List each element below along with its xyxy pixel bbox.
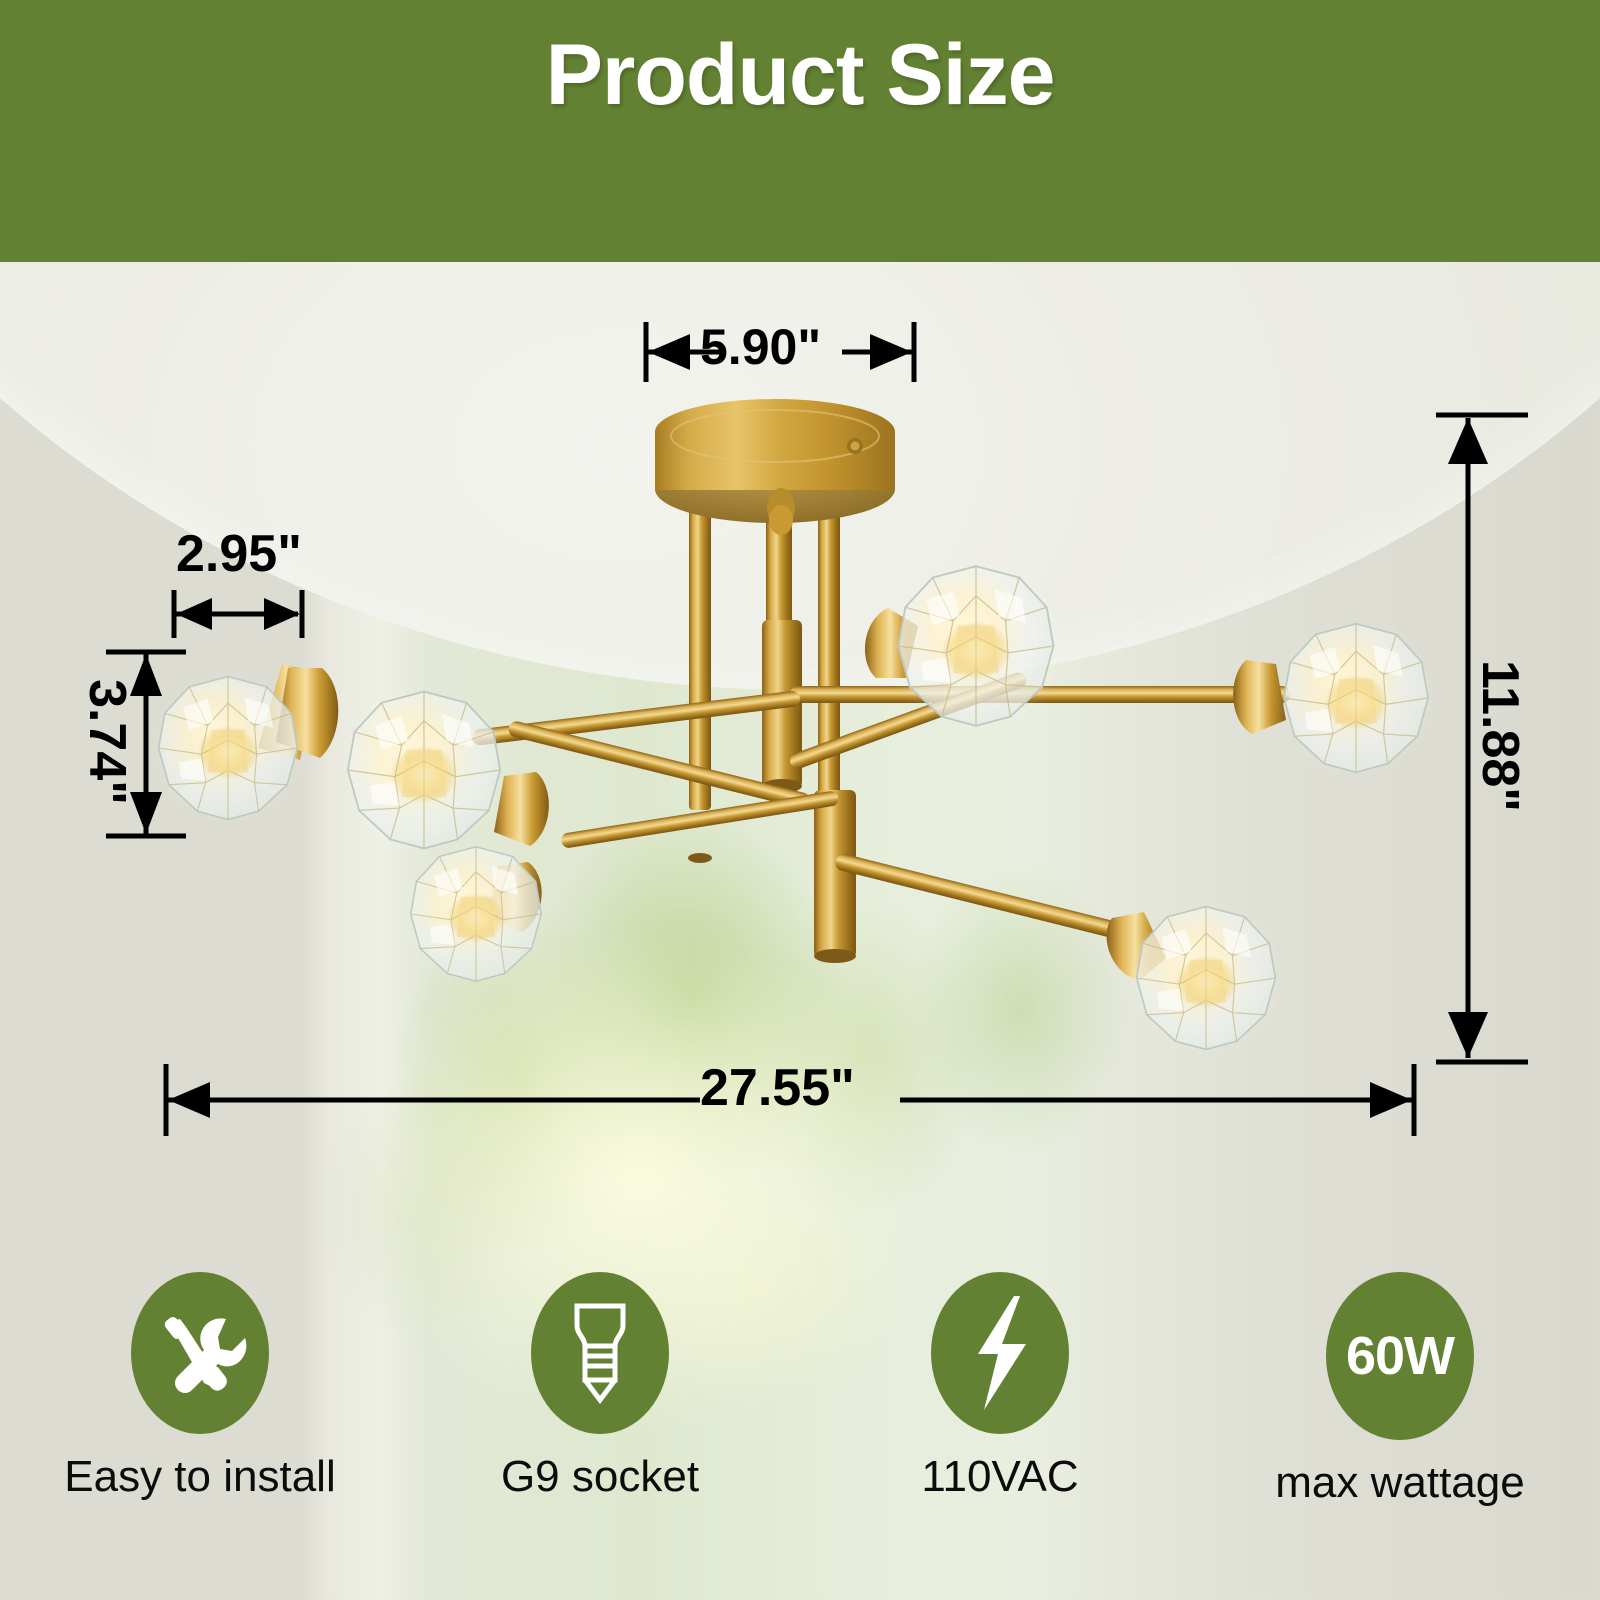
dimension-globe-width-label: 2.95" bbox=[176, 528, 302, 580]
badge-circle bbox=[931, 1272, 1069, 1434]
dimension-fixture-width-label: 27.55" bbox=[700, 1062, 855, 1114]
badge-circle bbox=[531, 1272, 669, 1434]
page-title: Product Size bbox=[0, 30, 1600, 120]
feature-badge-max-wattage: 60W max wattage bbox=[1200, 1272, 1600, 1572]
badge-label: Easy to install bbox=[64, 1452, 335, 1502]
dimension-fixture-height-label: 11.88" bbox=[1474, 591, 1526, 881]
tools-icon bbox=[152, 1305, 248, 1401]
badge-circle: 60W bbox=[1326, 1272, 1474, 1440]
wattage-text: 60W bbox=[1346, 1325, 1454, 1387]
feature-badge-easy-install: Easy to install bbox=[0, 1272, 400, 1572]
feature-badge-110vac: 110VAC bbox=[800, 1272, 1200, 1572]
badge-label: max wattage bbox=[1275, 1458, 1524, 1508]
badge-label: 110VAC bbox=[921, 1452, 1078, 1502]
dimension-globe-height-label: 3.74" bbox=[81, 652, 133, 832]
dimension-canopy-width-label: 5.90" bbox=[700, 322, 821, 372]
header-band: Product Size bbox=[0, 0, 1600, 262]
badge-label: G9 socket bbox=[501, 1452, 699, 1502]
badge-circle bbox=[131, 1272, 269, 1434]
feature-badges-row: Easy to install G9 socket 110VAC bbox=[0, 1272, 1600, 1572]
dimension-globe-width bbox=[168, 588, 308, 640]
lightning-icon bbox=[964, 1294, 1036, 1412]
feature-badge-g9-socket: G9 socket bbox=[400, 1272, 800, 1572]
lightbulb-icon bbox=[557, 1300, 643, 1406]
